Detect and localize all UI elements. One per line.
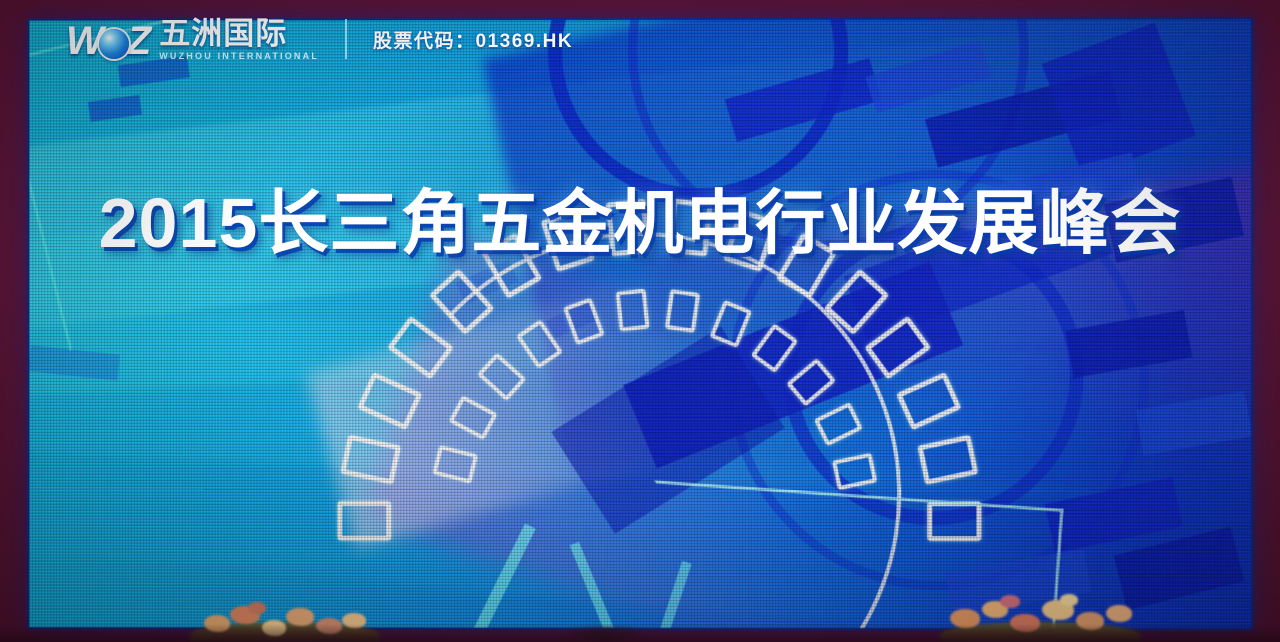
flower [248,602,266,614]
brand-name-cn: 五洲国际 [159,18,287,50]
globe-icon [99,29,129,59]
logo-letter-w: W [66,21,102,61]
stage-front-edge [0,624,1280,642]
flower [1060,594,1078,606]
led-screen [29,19,1251,628]
company-logo: W Z 五洲国际 WUZHOU INTERNATIONAL [66,18,319,61]
flower [1106,605,1132,622]
logo-letter-z: Z [127,21,149,61]
stock-ticker-label: 股票代码：01369.HK [373,26,573,53]
woz-wordmark: W Z [66,21,149,61]
flower [1000,595,1020,608]
brand-name-en: WUZHOU INTERNATIONAL [159,51,319,61]
screen-header: W Z 五洲国际 WUZHOU INTERNATIONAL 股票代码：01369… [66,18,573,61]
page-title: 2015长三角五金机电行业发展峰会 [0,188,1280,258]
brand-name-block: 五洲国际 WUZHOU INTERNATIONAL [159,18,319,61]
stage-scene: W Z 五洲国际 WUZHOU INTERNATIONAL 股票代码：01369… [0,0,1280,642]
header-divider [345,19,347,59]
